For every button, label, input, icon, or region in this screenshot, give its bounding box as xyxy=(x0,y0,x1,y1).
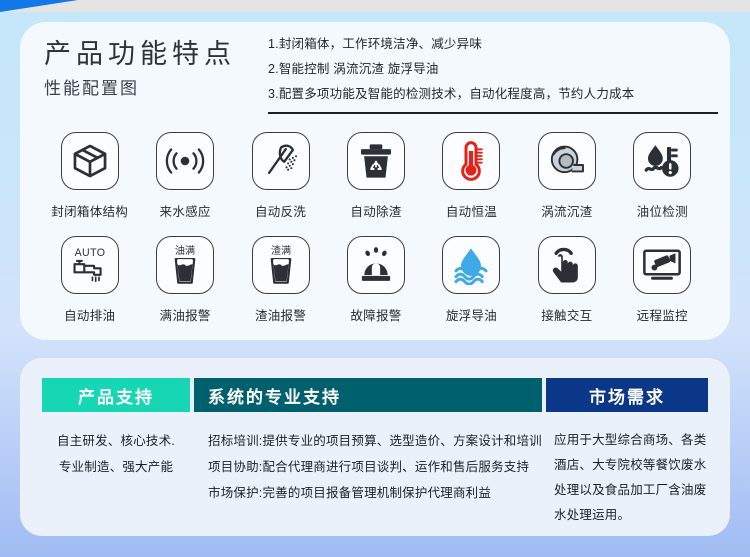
feature-label: 远程监控 xyxy=(637,305,688,324)
infographic-page: 产品功能特点 性能配置图 1.封闭箱体，工作环境洁净、减少异味 2.智能控制 涡… xyxy=(0,0,750,557)
feature-label: 油位检测 xyxy=(637,201,688,220)
feature-item-remote-monitoring[interactable]: 远程监控 xyxy=(615,236,710,340)
panel-a-line-2: 专业制造、强大产能 xyxy=(46,454,186,480)
feature-item-fault-alarm[interactable]: 故障报警 xyxy=(328,236,423,340)
auto-faucet-icon: AUTO xyxy=(61,236,119,294)
panel-market-demand: 市场需求 应用于大型综合商场、各类酒店、大专院校等餐饮废水处理以及食品加工厂含油… xyxy=(546,378,708,528)
panel-a-line-1: 自主研发、核心技术. xyxy=(46,428,186,454)
feature-item-oil-level-detection[interactable]: 油位检测 xyxy=(615,132,710,236)
water-drop-wave-icon xyxy=(442,236,500,294)
panel-system-support: 系统的专业支持 招标培训:提供专业的项目预算、选型造价、方案设计和培训 项目协助… xyxy=(194,378,542,528)
feature-item-residue-full-alarm[interactable]: 渣满 渣油报警 xyxy=(233,236,328,340)
feature-item-auto-oil-drain[interactable]: AUTO 自动排油 xyxy=(42,236,137,340)
box-icon xyxy=(61,132,119,190)
water-sensor-icon xyxy=(156,132,214,190)
feature-label: 满油报警 xyxy=(160,305,211,324)
feature-item-vortex-settling[interactable]: 涡流沉渣 xyxy=(519,132,614,236)
support-card: 产品支持 自主研发、核心技术. 专业制造、强大产能 系统的专业支持 招标培训:提… xyxy=(20,358,730,536)
feature-item-floating-oil-guide[interactable]: 旋浮导油 xyxy=(424,236,519,340)
oil-full-cup-icon: 油满 xyxy=(156,236,214,294)
panel-product-support: 产品支持 自主研发、核心技术. 专业制造、强大产能 xyxy=(42,378,190,528)
feature-item-water-sensor[interactable]: 来水感应 xyxy=(137,132,232,236)
svg-text:AUTO: AUTO xyxy=(74,247,105,259)
bullet-2: 2.智能控制 涡流沉渣 旋浮导油 xyxy=(268,57,718,82)
alarm-siren-icon xyxy=(347,236,405,294)
page-title: 产品功能特点 xyxy=(44,38,274,72)
page-subtitle: 性能配置图 xyxy=(44,76,274,102)
svg-text:渣满: 渣满 xyxy=(270,244,290,257)
remote-monitor-icon xyxy=(633,236,691,294)
thermometer-icon xyxy=(442,132,500,190)
panel-b-line-2: 项目协助:配合代理商进行项目谈判、运作和售后服务支持 xyxy=(208,454,542,480)
feature-label: 自动除渣 xyxy=(350,201,401,220)
touch-hand-icon xyxy=(538,236,596,294)
panel-b-body: 招标培训:提供专业的项目预算、选型造价、方案设计和培训 项目协助:配合代理商进行… xyxy=(194,428,542,506)
feature-label: 故障报警 xyxy=(350,305,401,324)
header-bullets: 1.封闭箱体，工作环境洁净、减少异味 2.智能控制 涡流沉渣 旋浮导油 3.配置… xyxy=(268,32,718,114)
bullet-1: 1.封闭箱体，工作环境洁净、减少异味 xyxy=(268,32,718,57)
oil-level-alert-icon xyxy=(633,132,691,190)
feature-item-oil-full-alarm[interactable]: 油满 满油报警 xyxy=(137,236,232,340)
residue-full-cup-icon: 渣满 xyxy=(252,236,310,294)
bullet-3: 3.配置多项功能及智能的检测技术，自动化程度高，节约人力成本 xyxy=(268,82,718,107)
support-panels: 产品支持 自主研发、核心技术. 专业制造、强大产能 系统的专业支持 招标培训:提… xyxy=(42,378,708,528)
feature-item-auto-thermostat[interactable]: 自动恒温 xyxy=(424,132,519,236)
header-title-block: 产品功能特点 性能配置图 xyxy=(44,38,274,101)
panel-c-heading: 市场需求 xyxy=(546,378,708,412)
corner-triangle-decoration xyxy=(0,0,78,12)
features-card: 产品功能特点 性能配置图 1.封闭箱体，工作环境洁净、减少异味 2.智能控制 涡… xyxy=(20,22,730,340)
feature-label: 封闭箱体结构 xyxy=(51,201,128,220)
feature-label: 涡流沉渣 xyxy=(541,201,592,220)
panel-c-line-1: 应用于大型综合商场、各类酒店、大专院校等餐饮废水处理以及食品加工厂含油废水处理运… xyxy=(554,428,708,528)
feature-label: 自动恒温 xyxy=(446,201,497,220)
feature-label: 渣油报警 xyxy=(255,305,306,324)
panel-b-heading: 系统的专业支持 xyxy=(194,378,542,412)
feature-label: 旋浮导油 xyxy=(446,305,497,324)
backwash-icon xyxy=(252,132,310,190)
card-header: 产品功能特点 性能配置图 1.封闭箱体，工作环境洁净、减少异味 2.智能控制 涡… xyxy=(20,22,730,130)
feature-item-touch-interaction[interactable]: 接触交互 xyxy=(519,236,614,340)
trash-recycle-icon xyxy=(347,132,405,190)
feature-label: 接触交互 xyxy=(541,305,592,324)
feature-label: 自动反洗 xyxy=(255,201,306,220)
feature-item-closed-box[interactable]: 封闭箱体结构 xyxy=(42,132,137,236)
panel-b-line-1: 招标培训:提供专业的项目预算、选型造价、方案设计和培训 xyxy=(208,428,542,454)
feature-item-backwash[interactable]: 自动反洗 xyxy=(233,132,328,236)
feature-label: 自动排油 xyxy=(64,305,115,324)
panel-a-body: 自主研发、核心技术. 专业制造、强大产能 xyxy=(42,428,190,480)
header-divider xyxy=(268,112,718,114)
feature-icon-grid: 封闭箱体结构 来水感应 xyxy=(42,132,710,340)
feature-item-residue-removal[interactable]: 自动除渣 xyxy=(328,132,423,236)
vortex-pump-icon xyxy=(538,132,596,190)
feature-label: 来水感应 xyxy=(160,201,211,220)
panel-b-line-3: 市场保护:完善的项目报备管理机制保护代理商利益 xyxy=(208,480,542,506)
svg-text:油满: 油满 xyxy=(175,244,195,257)
top-grey-strip xyxy=(0,0,750,12)
panel-a-heading: 产品支持 xyxy=(42,378,190,412)
panel-c-body: 应用于大型综合商场、各类酒店、大专院校等餐饮废水处理以及食品加工厂含油废水处理运… xyxy=(546,428,708,528)
